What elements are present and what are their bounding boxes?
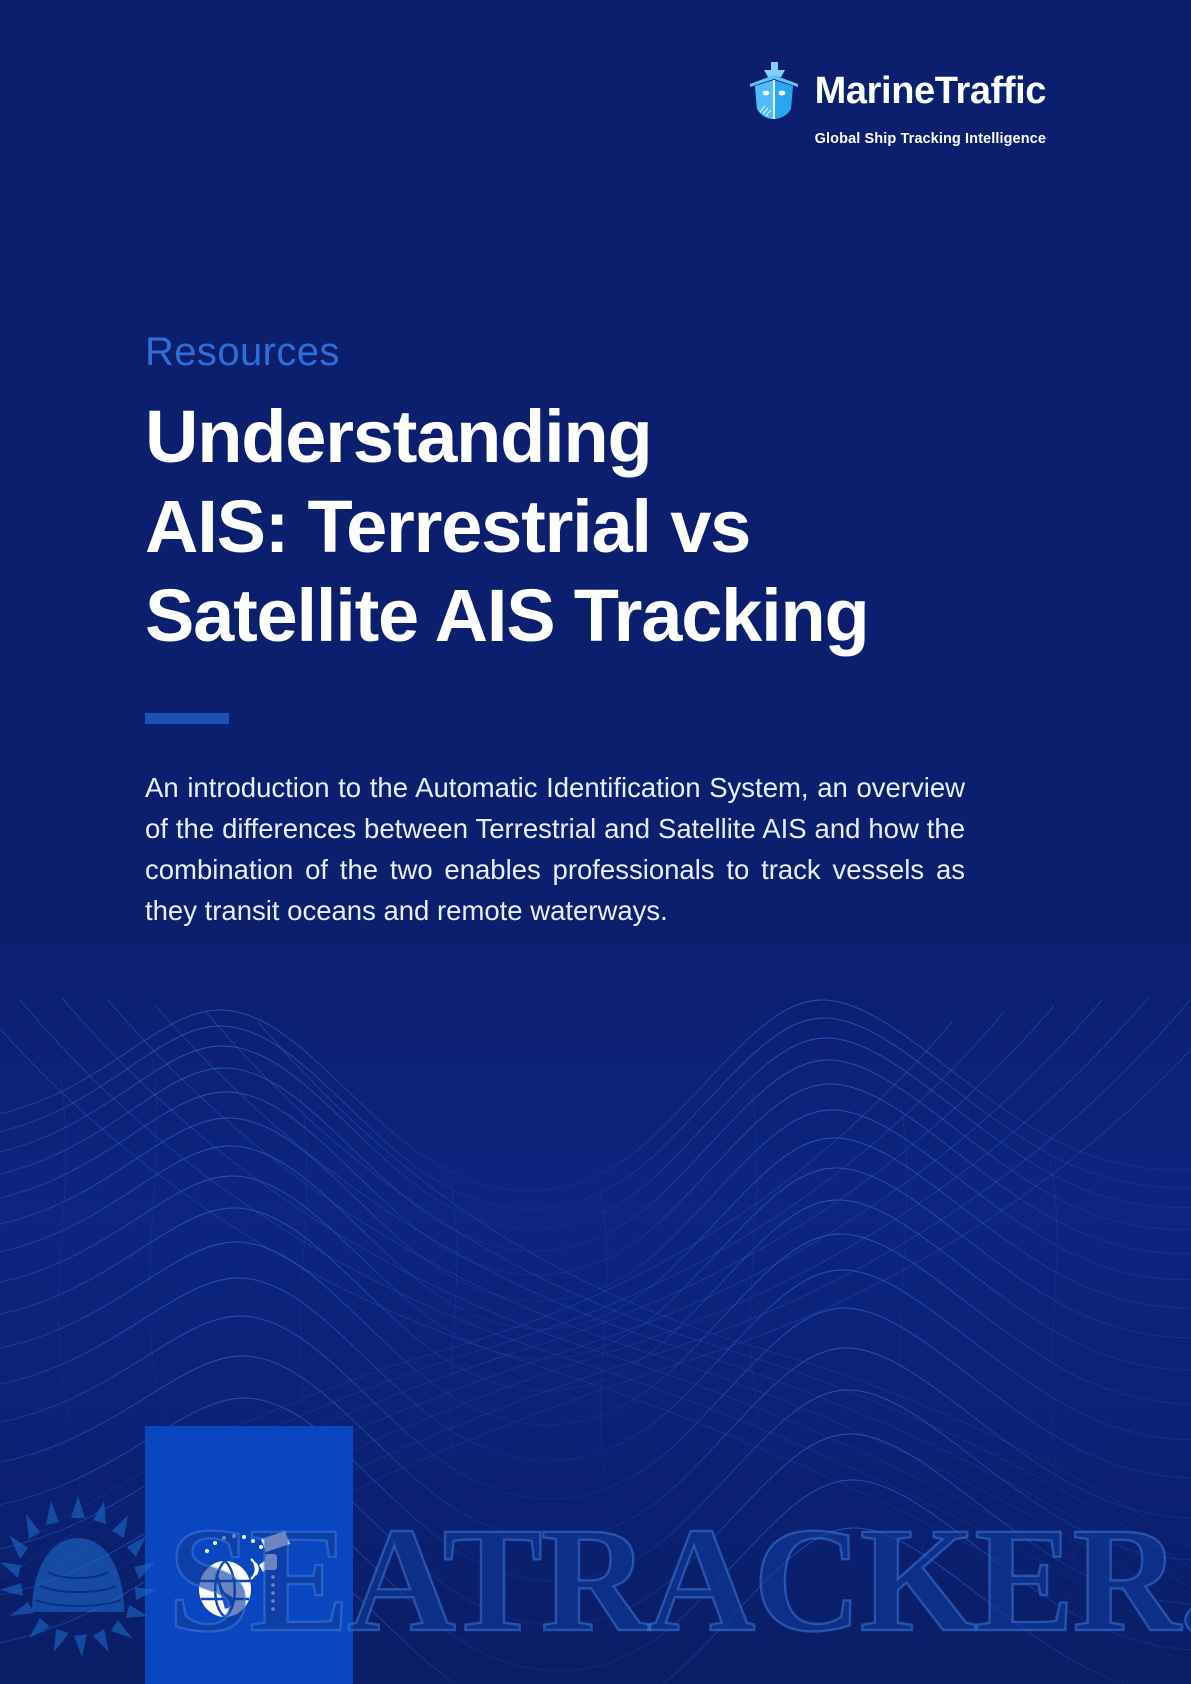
cover-description: An introduction to the Automatic Identif… (145, 768, 965, 932)
document-cover-page: MarineTraffic Global Ship Tracking Intel… (0, 0, 1191, 1684)
marinetraffic-ship-icon (747, 62, 801, 120)
title-line-2: AIS: Terrestrial vs (145, 482, 965, 572)
marinetraffic-logo[interactable]: MarineTraffic Global Ship Tracking Intel… (747, 62, 1046, 147)
eyebrow-label: Resources (145, 330, 965, 374)
title-divider-rule (145, 713, 229, 724)
page-title: Understanding AIS: Terrestrial vs Satell… (145, 392, 965, 661)
satellite-globe-icon (189, 1511, 309, 1631)
satellite-badge-panel (145, 1426, 353, 1684)
title-line-1: Understanding (145, 392, 965, 482)
logo-wordmark: MarineTraffic (815, 72, 1046, 110)
logo-row: MarineTraffic (747, 62, 1046, 120)
title-line-3: Satellite AIS Tracking (145, 571, 965, 661)
logo-tagline: Global Ship Tracking Intelligence (815, 131, 1046, 147)
cover-copy-block: Resources Understanding AIS: Terrestrial… (145, 330, 965, 931)
